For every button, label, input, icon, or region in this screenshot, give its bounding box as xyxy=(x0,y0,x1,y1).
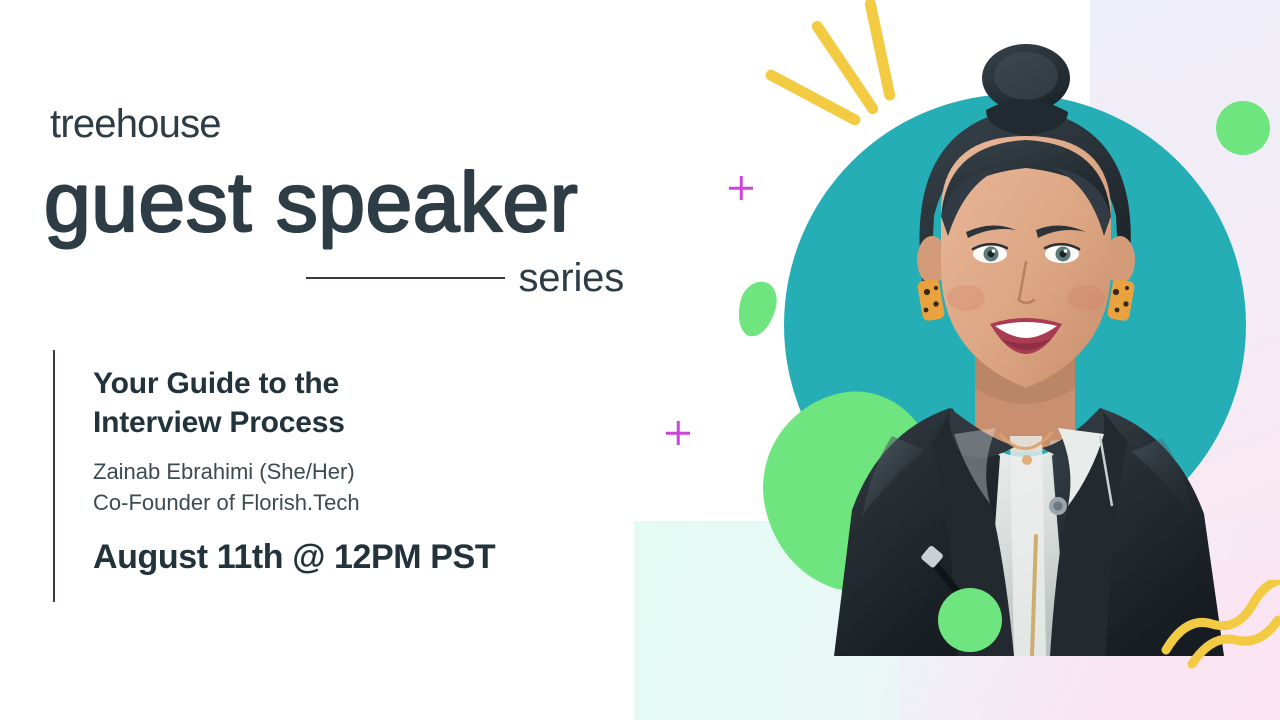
headline-guest-speaker: guest speaker xyxy=(44,160,578,244)
speaker-portrait xyxy=(800,36,1250,656)
green-circle-bottom-icon xyxy=(938,588,1002,652)
talk-title-line-1: Your Guide to the xyxy=(93,367,339,400)
green-blob-bean-icon xyxy=(733,277,781,340)
event-details-block: Your Guide to the Interview Process Zain… xyxy=(53,350,495,602)
plus-mark-2-icon xyxy=(666,421,690,445)
talk-title: Your Guide to the Interview Process xyxy=(93,364,495,442)
series-row: series xyxy=(306,258,624,298)
speaker-role: Co-Founder of Florish.Tech xyxy=(93,487,495,518)
plus-mark-1-icon xyxy=(729,176,753,200)
talk-title-line-2: Interview Process xyxy=(93,406,345,439)
series-divider-rule xyxy=(306,277,505,279)
brand-wordmark: treehouse xyxy=(50,104,221,144)
event-datetime: August 11th @ 12PM PST xyxy=(93,540,495,574)
series-label: series xyxy=(519,258,625,298)
wavy-squiggle-group-icon xyxy=(1160,580,1280,700)
promo-graphic: treehouse guest speaker series Your Guid… xyxy=(0,0,1280,720)
speaker-name: Zainab Ebrahimi (She/Her) xyxy=(93,456,495,487)
